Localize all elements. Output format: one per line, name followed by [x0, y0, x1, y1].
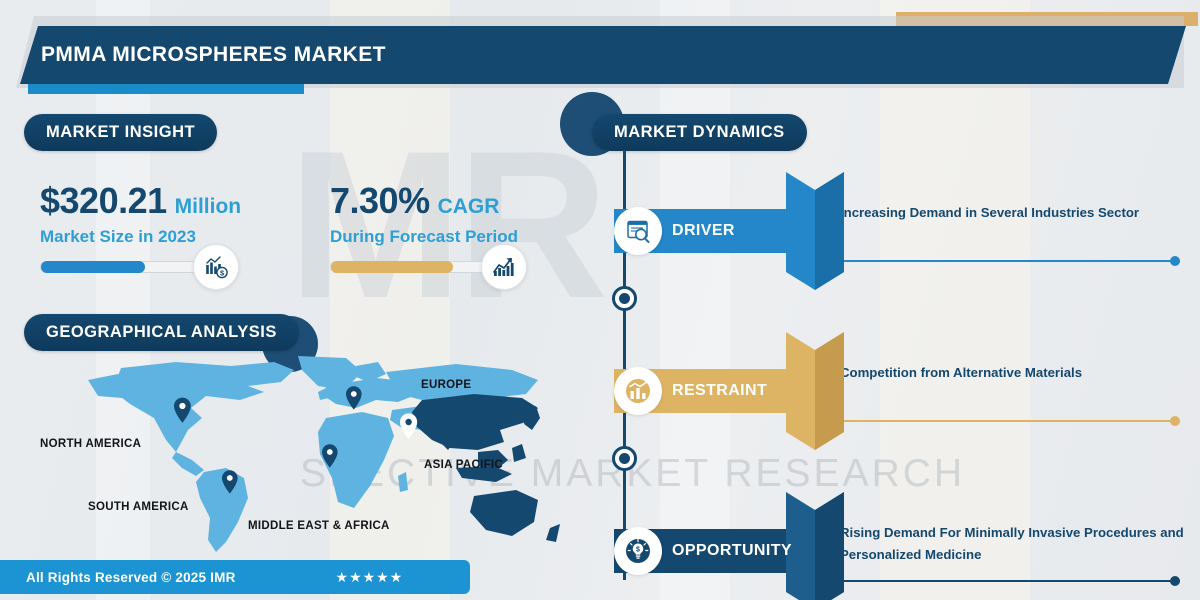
opportunity-description: Rising Demand For Minimally Invasive Pro…: [840, 522, 1192, 566]
opportunity-label: OPPORTUNITY: [672, 542, 792, 560]
copyright-text: All Rights Reserved © 2025 IMR: [26, 570, 236, 585]
cagr-progress: [330, 261, 516, 273]
title-accent-bar: [28, 84, 304, 94]
svg-text:$: $: [220, 268, 224, 277]
region-madagascar: [398, 472, 408, 492]
rule-dot: [1170, 256, 1180, 266]
map-label-middle-east-africa: MIDDLE EAST & AFRICA: [248, 520, 390, 532]
region-australia: [470, 490, 538, 536]
dynamics-row-driver: DRIVER Increasing Demand in Several Indu…: [592, 172, 1200, 290]
driver-description-wrap: Increasing Demand in Several Industries …: [840, 202, 1192, 224]
restraint-rule: [840, 420, 1180, 422]
rule-dot: [1170, 416, 1180, 426]
region-south-america: [196, 468, 248, 552]
market-size-progress: $: [40, 261, 226, 273]
dynamics-row-restraint: RESTRAINT Competition from Alternative M…: [592, 332, 1200, 450]
cagr-unit: CAGR: [438, 195, 500, 219]
geographical-analysis-heading: GEOGRAPHICAL ANALYSIS: [24, 314, 299, 351]
market-insight-heading: MARKET INSIGHT: [24, 114, 217, 151]
opportunity-description-wrap: Rising Demand For Minimally Invasive Pro…: [840, 522, 1192, 566]
cagr-value: 7.30%: [330, 180, 430, 222]
driver-ribbon: [786, 172, 844, 290]
dynamics-row-opportunity: $ OPPORTUNITY Rising Demand For Minimall…: [592, 492, 1200, 600]
map-pin-asia-pacific: [400, 413, 417, 439]
map-label-south-america: SOUTH AMERICA: [88, 501, 189, 513]
cagr-caption: During Forecast Period: [330, 227, 570, 247]
restraint-label: RESTRAINT: [672, 382, 767, 400]
rating-stars: ★★★★★: [336, 569, 404, 586]
market-size-caption: Market Size in 2023: [40, 227, 300, 247]
world-map: NORTH AMERICA SOUTH AMERICA MIDDLE EAST …: [26, 356, 566, 556]
page-title: PMMA MICROSPHERES MARKET: [20, 43, 386, 67]
driver-rule: [840, 260, 1180, 262]
declining-bar-chart-icon: [614, 367, 662, 415]
rule-line: [840, 260, 1180, 262]
driver-description: Increasing Demand in Several Industries …: [840, 202, 1192, 224]
market-dynamics-section: DRIVER Increasing Demand in Several Indu…: [592, 150, 1200, 580]
map-label-asia-pacific: ASIA PACIFIC: [424, 459, 503, 471]
growth-arrow-chart-icon: [481, 244, 527, 290]
progress-fill: [331, 261, 453, 273]
map-label-europe: EUROPE: [421, 379, 471, 391]
infographic-root: MR SPECTIVE MARKET RESEARCH PMMA MICROSP…: [0, 0, 1200, 600]
rule-line: [840, 580, 1180, 582]
stat-cagr: 7.30% CAGR During Forecast Period: [330, 180, 570, 273]
svg-text:$: $: [636, 546, 640, 553]
stat-market-size: $320.21 Million Market Size in 2023 $: [40, 180, 300, 273]
region-philippines: [512, 444, 526, 462]
market-size-unit: Million: [175, 195, 242, 219]
region-new-zealand: [546, 524, 560, 542]
driver-label: DRIVER: [672, 222, 735, 240]
market-size-value: $320.21: [40, 180, 167, 222]
bar-chart-dollar-icon: $: [193, 244, 239, 290]
lightbulb-dollar-icon: $: [614, 527, 662, 575]
restraint-description: Competition from Alternative Materials: [840, 362, 1192, 384]
opportunity-ribbon: [786, 492, 844, 600]
footer-bar: All Rights Reserved © 2025 IMR ★★★★★: [0, 560, 470, 594]
market-dynamics-heading: MARKET DYNAMICS: [592, 114, 807, 151]
rule-line: [840, 420, 1180, 422]
title-banner: PMMA MICROSPHERES MARKET: [20, 26, 1186, 84]
restraint-description-wrap: Competition from Alternative Materials: [840, 362, 1192, 384]
document-magnifier-icon: [614, 207, 662, 255]
rule-dot: [1170, 576, 1180, 586]
region-central-america: [172, 452, 204, 476]
progress-fill: [41, 261, 145, 273]
opportunity-rule: [840, 580, 1180, 582]
region-asia-pacific-highlight: [412, 394, 538, 450]
map-label-north-america: NORTH AMERICA: [40, 438, 141, 450]
restraint-ribbon: [786, 332, 844, 450]
